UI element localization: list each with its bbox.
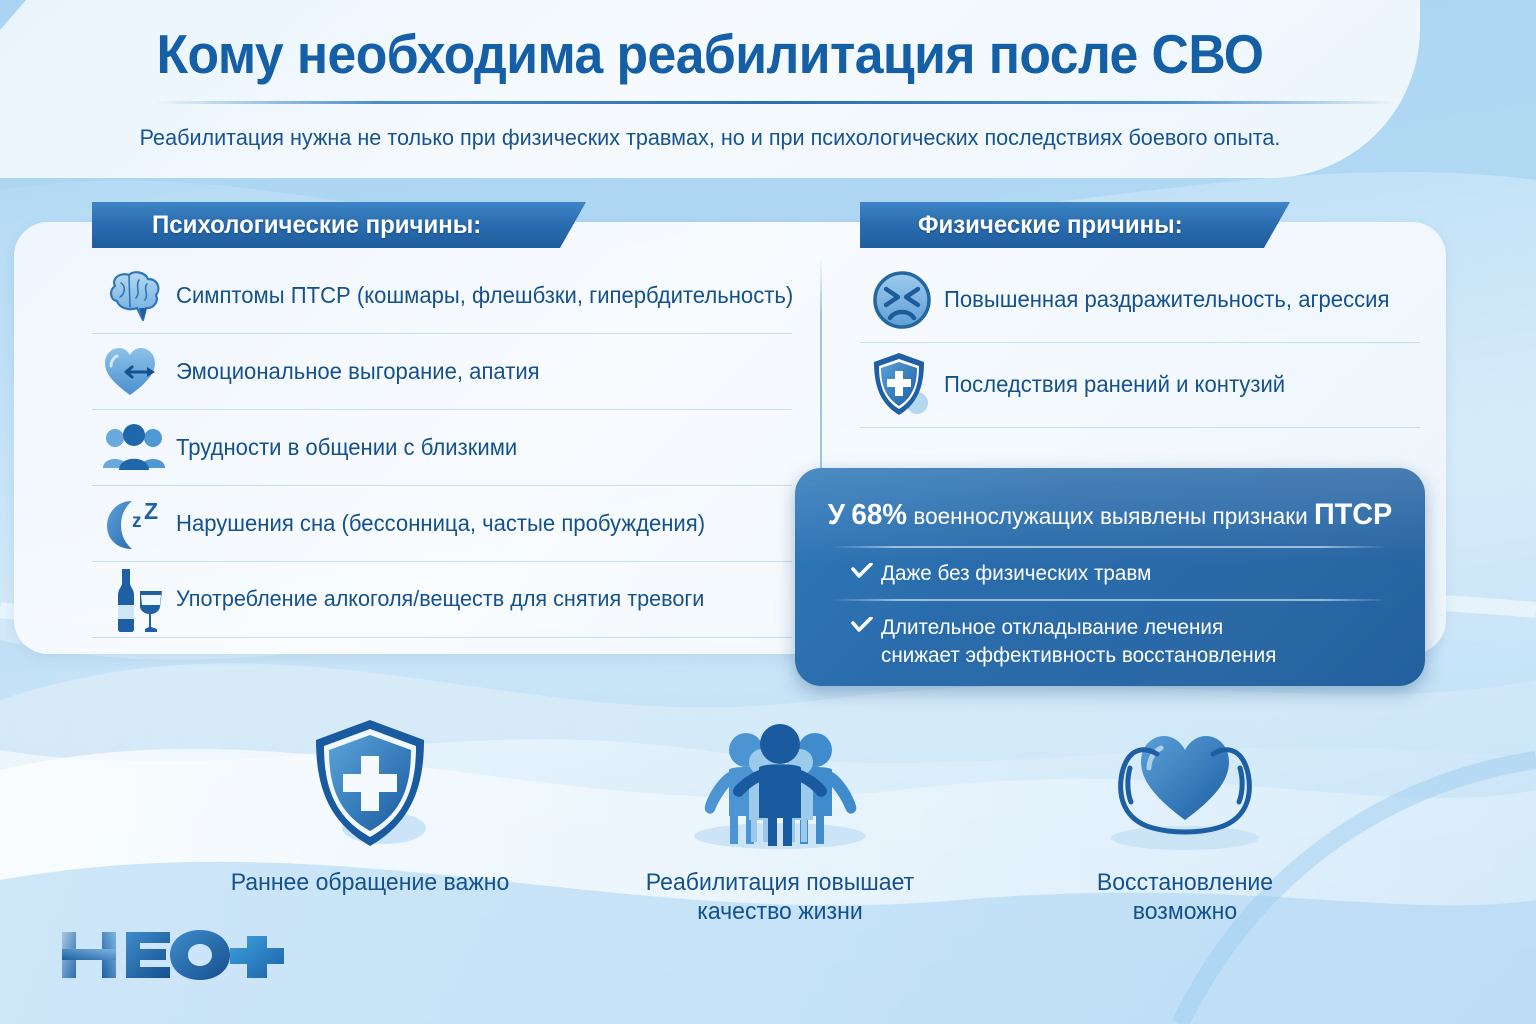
feature-label: Раннее обращение важно	[212, 868, 529, 897]
statistics-panel: У 68% военнослужащих выявлены признаки П…	[795, 468, 1425, 686]
brain-icon	[92, 258, 176, 333]
banner-physical-label: Физические причины:	[918, 211, 1183, 240]
banner-physical-causes: Физические причины:	[860, 202, 1290, 248]
list-item-label: Употребление алкоголя/веществ для снятия…	[176, 587, 704, 612]
feature-quality-of-life: Реабилитация повышает качество жизни	[615, 716, 945, 927]
statistic-headline: У 68% военнослужащих выявлены признаки П…	[808, 498, 1413, 532]
page-title: Кому необходима реабилитация после СВО	[43, 22, 1378, 86]
hands-heart-icon	[1020, 716, 1350, 850]
statistic-text: военнослужащих выявлены признаки	[913, 503, 1307, 529]
page-subtitle: Реабилитация нужна не только при физичес…	[28, 125, 1391, 151]
list-psychological-causes: Симптомы ПТСР (кошмары, флешбзки, гиперб…	[92, 258, 792, 638]
list-item-label: Симптомы ПТСР (кошмары, флешбзки, гиперб…	[176, 283, 793, 308]
infographic-canvas: Кому необходима реабилитация после СВО Р…	[0, 0, 1536, 1024]
list-item: Трудности в общении с близкими	[92, 410, 792, 486]
feature-early-help: Раннее обращение важно	[205, 716, 535, 897]
svg-text:Z: Z	[144, 498, 158, 524]
statistic-prefix: У	[828, 499, 845, 531]
statistic-divider-1	[831, 546, 1387, 548]
people-together-icon	[615, 716, 945, 850]
check-icon	[851, 614, 881, 638]
list-item: Повышенная раздражительность, агрессия	[860, 258, 1420, 343]
statistic-bullet: Длительное откладывание лечения снижает …	[851, 614, 1293, 669]
title-divider	[152, 101, 1398, 104]
people-group-icon	[92, 410, 176, 485]
logo-neo-plus	[58, 922, 288, 984]
list-item-label: Трудности в общении с близкими	[176, 435, 517, 460]
banner-psychological-label: Психологические причины:	[152, 211, 481, 240]
list-item: Эмоциональное выгорание, апатия	[92, 334, 792, 410]
bottle-glass-icon	[92, 562, 176, 637]
statistic-divider-2	[831, 599, 1387, 601]
feature-recovery-possible: Восстановление возможно	[1020, 716, 1350, 927]
statistic-bullet: Даже без физических травм	[851, 560, 1163, 588]
moon-sleep-icon: z Z	[92, 486, 176, 561]
list-item-label: Последствия ранений и контузий	[944, 372, 1285, 397]
statistic-bullet-label: Даже без физических травм	[881, 560, 1151, 588]
shield-cross-large-icon	[205, 716, 535, 850]
angry-face-icon	[860, 258, 944, 342]
statistic-tail: ПТСР	[1314, 498, 1392, 531]
list-item-label: Повышенная раздражительность, агрессия	[944, 287, 1389, 312]
heart-arrow-icon	[92, 334, 176, 409]
list-item: z Z Нарушения сна (бессонница, частые пр…	[92, 486, 792, 562]
list-item: Последствия ранений и контузий	[860, 343, 1420, 428]
list-item: Симптомы ПТСР (кошмары, флешбзки, гиперб…	[92, 258, 792, 334]
statistic-bullet-label: Длительное откладывание лечения снижает …	[881, 614, 1276, 669]
check-icon	[851, 560, 881, 584]
list-item: Употребление алкоголя/веществ для снятия…	[92, 562, 792, 638]
feature-label: Восстановление возможно	[1027, 868, 1344, 927]
statistic-percent: 68%	[851, 499, 907, 531]
feature-label: Реабилитация повышает качество жизни	[622, 868, 939, 927]
shield-cross-icon	[860, 343, 944, 427]
svg-text:z: z	[132, 511, 142, 532]
banner-psychological-causes: Психологические причины:	[92, 202, 586, 248]
list-physical-causes: Повышенная раздражительность, агрессия П…	[860, 258, 1420, 428]
list-item-label: Нарушения сна (бессонница, частые пробуж…	[176, 511, 705, 536]
list-item-label: Эмоциональное выгорание, апатия	[176, 359, 540, 384]
